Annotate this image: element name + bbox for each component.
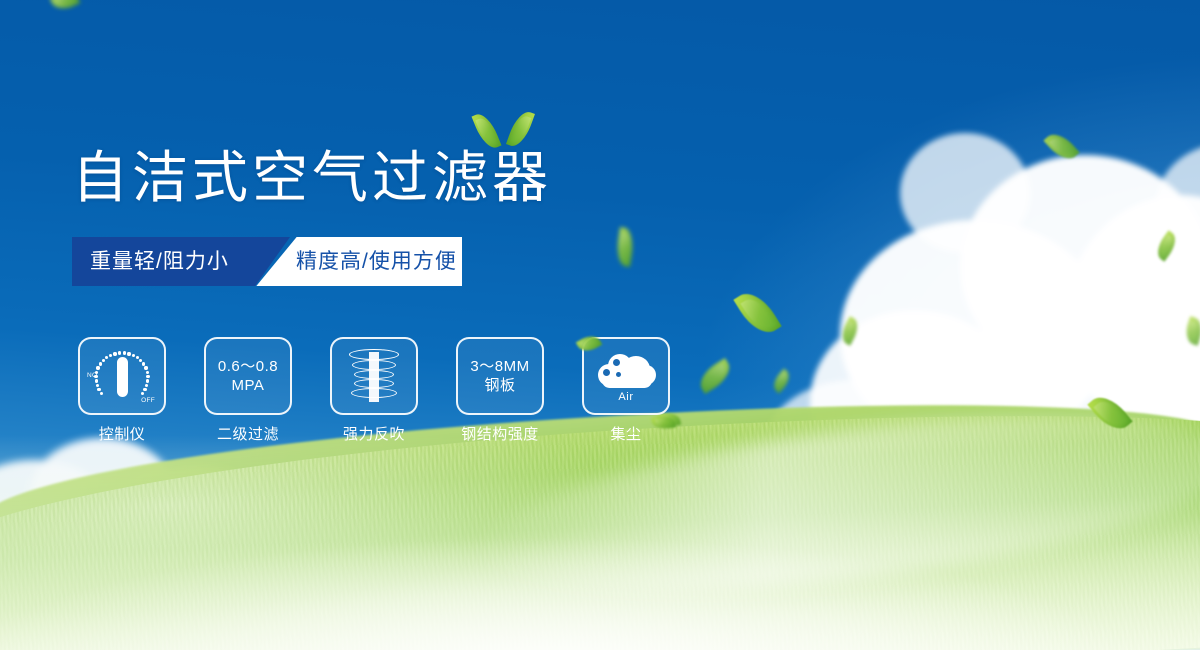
feature-icon-box	[330, 337, 418, 415]
air-label: Air	[618, 391, 633, 404]
feature-item-blowback[interactable]: 强力反吹	[330, 337, 418, 444]
subtitle-segment-left: 重量轻/阻力小	[72, 237, 290, 286]
subtitle-bar: 重量轻/阻力小 精度高/使用方便	[72, 237, 462, 286]
feature-label: 集尘	[610, 425, 641, 444]
air-cloud-icon	[594, 348, 658, 390]
subtitle-left-text: 重量轻/阻力小	[90, 248, 229, 275]
feature-label: 强力反吹	[343, 425, 405, 444]
pressure-value: 0.6～0.8	[218, 357, 278, 376]
steel-material: 钢板	[484, 376, 515, 395]
product-banner: 自洁式空气过滤器 重量轻/阻力小 精度高/使用方便 NO OFF 控制仪 0.6	[0, 0, 1200, 650]
feature-icon-box: Air	[582, 337, 670, 415]
feature-item-filter[interactable]: 0.6～0.8 MPA 二级过滤	[204, 337, 292, 444]
feature-label: 钢结构强度	[461, 425, 539, 444]
page-title: 自洁式空气过滤器	[72, 146, 552, 210]
feature-icon-box: 3～8MM 钢板	[456, 337, 544, 415]
feature-label: 控制仪	[99, 425, 146, 444]
blowback-icon	[344, 345, 404, 407]
gauge-off-label: OFF	[141, 397, 155, 404]
subtitle-right-text: 精度高/使用方便	[296, 248, 457, 275]
feature-label: 二级过滤	[217, 425, 279, 444]
gauge-icon: NO OFF	[87, 345, 157, 407]
pressure-unit: MPA	[232, 376, 265, 395]
steel-thickness: 3～8MM	[470, 357, 529, 376]
feature-item-control[interactable]: NO OFF 控制仪	[78, 337, 166, 444]
feature-list: NO OFF 控制仪 0.6～0.8 MPA 二级过滤	[78, 337, 670, 444]
feature-icon-box: 0.6～0.8 MPA	[204, 337, 292, 415]
feature-item-steel[interactable]: 3～8MM 钢板 钢结构强度	[456, 337, 544, 444]
feature-icon-box: NO OFF	[78, 337, 166, 415]
feature-item-dust[interactable]: Air 集尘	[582, 337, 670, 444]
